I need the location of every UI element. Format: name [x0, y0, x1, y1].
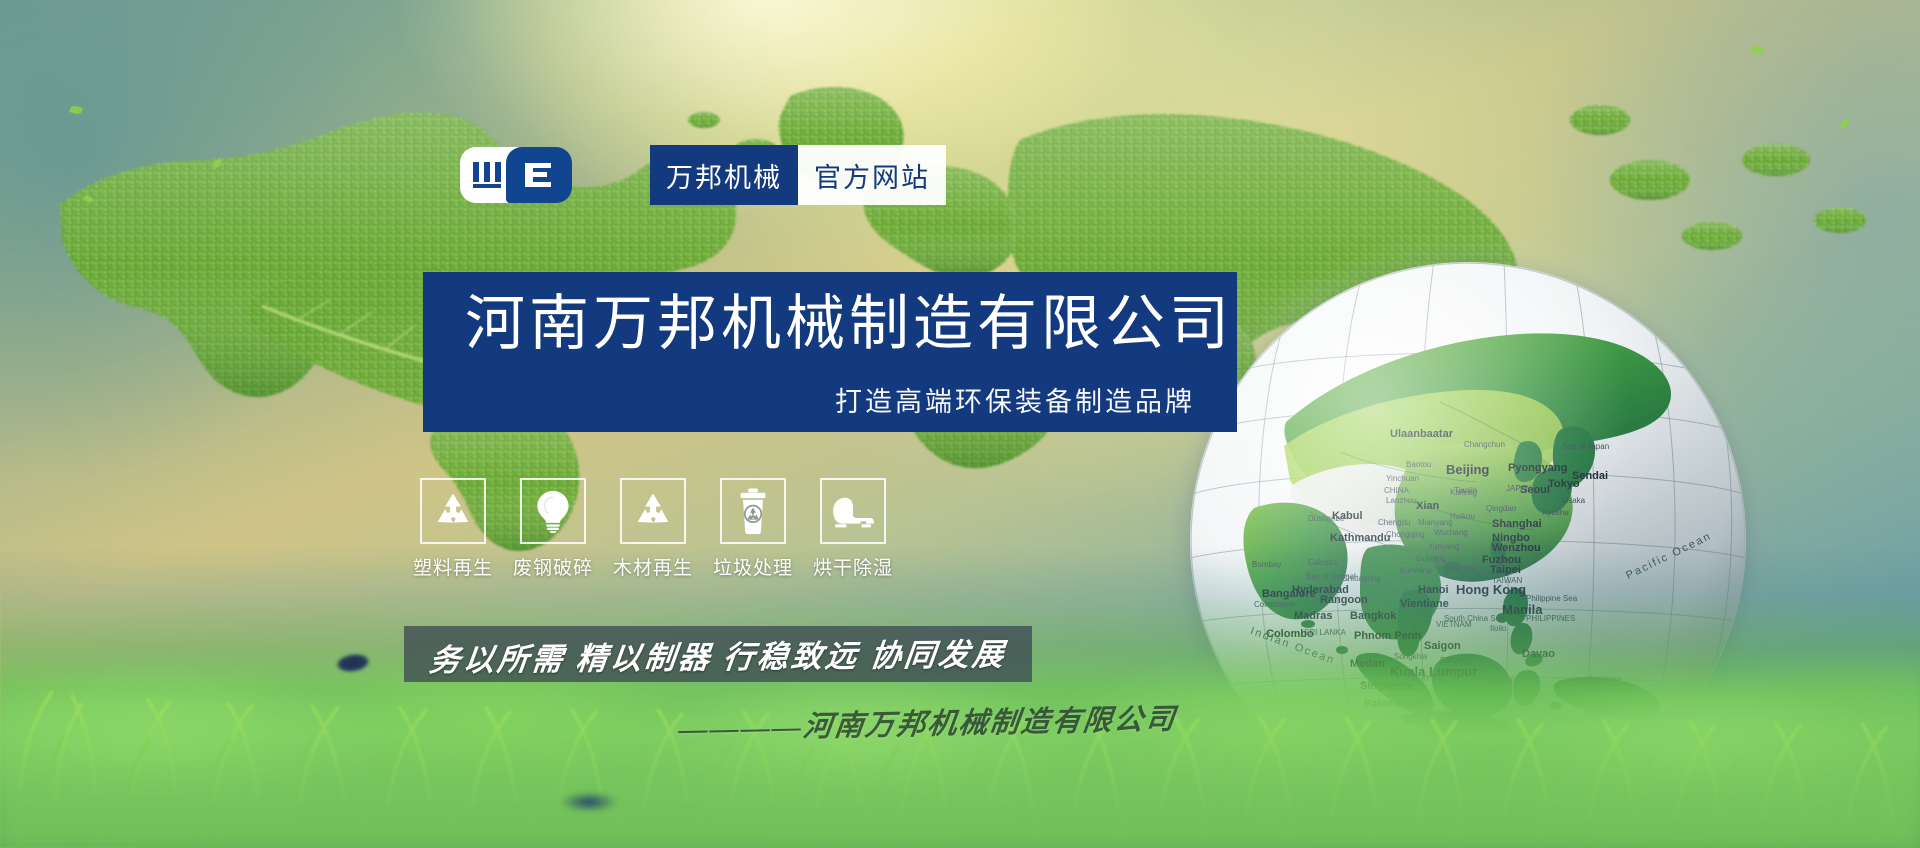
logo-e-mark [506, 147, 572, 203]
globe-city-label: Chengdu [1378, 518, 1410, 527]
globe-city-label: Kathmandu [1330, 532, 1391, 544]
globe-city-label: Pyongyang [1508, 462, 1567, 474]
globe-city-label: Changchun [1464, 440, 1505, 449]
service-item-plastic-recycling[interactable]: 塑料再生 [420, 478, 486, 580]
tab-official-site[interactable]: 官方网站 [798, 145, 946, 205]
globe-city-label: Xian [1416, 500, 1439, 512]
insect-speck [560, 792, 618, 812]
service-item-waste-treatment[interactable]: 垃圾处理 [720, 478, 786, 580]
hero-subtitle: 打造高端环保装备制造品牌 [465, 380, 1195, 419]
globe-city-label: Chongqing [1386, 530, 1425, 539]
service-label: 烘干除湿 [813, 553, 893, 580]
hero-title-panel: 河南万邦机械制造有限公司 打造高端环保装备制造品牌 [423, 272, 1237, 432]
service-item-wood-recycling[interactable]: 木材再生 [620, 478, 686, 580]
service-item-drying-dehumidifying[interactable]: 烘干除湿 [820, 478, 886, 580]
service-icon-row: 塑料再生 废钢破碎 [420, 478, 886, 580]
recycle-icon [620, 478, 686, 544]
brand-logo[interactable] [460, 145, 572, 205]
dryer-machine-icon [820, 478, 886, 544]
globe-city-label: Shanghai [1492, 518, 1542, 530]
globe-country-label: JAPAN [1506, 484, 1531, 493]
globe-city-label: Dushanbe [1308, 514, 1344, 523]
globe-city-label: Yinchuan [1386, 474, 1419, 483]
service-label: 木材再生 [613, 553, 693, 580]
globe-city-label: Baotou [1406, 460, 1431, 469]
service-label: 垃圾处理 [713, 553, 793, 580]
page-title: 河南万邦机械制造有限公司 [465, 294, 1195, 354]
globe-city-label: Qingdao [1486, 504, 1516, 513]
service-label: 废钢破碎 [513, 553, 593, 580]
service-label: 塑料再生 [413, 553, 493, 580]
globe-city-label: Ulaanbaatar [1390, 428, 1453, 440]
trash-bin-recycle-icon [720, 478, 786, 544]
recycle-icon [420, 478, 486, 544]
globe-city-label: Haikou [1450, 512, 1475, 521]
slogan-text: 务以所需 精以制器 行稳致远 协同发展 [427, 628, 1009, 679]
service-item-scrap-steel-crushing[interactable]: 废钢破碎 [520, 478, 586, 580]
globe-city-label: Osaka [1562, 496, 1585, 505]
lightbulb-icon [520, 478, 586, 544]
wb-logo-icon[interactable] [460, 147, 572, 203]
tab-company-name[interactable]: 万邦机械 [650, 145, 798, 205]
hero-banner: Ulaanbaatar Beijing Baotou Yinchuan Chan… [0, 0, 1920, 848]
globe-city-label: Mianyang [1418, 518, 1453, 527]
globe-city-label: Kyushu [1542, 508, 1569, 517]
globe-city-label: Wuchang [1434, 528, 1468, 537]
globe-sea-label: Sea of Japan [1562, 442, 1609, 451]
globe-city-label: Sendai [1572, 470, 1608, 482]
globe-country-label: CHINA [1384, 486, 1409, 495]
globe-city-label: Lanzhou [1386, 496, 1417, 505]
globe-city-label: Beijing [1446, 462, 1489, 477]
slogan-bar: 务以所需 精以制器 行稳致远 协同发展 [404, 626, 1032, 682]
site-tabs[interactable]: 万邦机械 官方网站 [650, 145, 946, 205]
globe-city-label: Kaifeng [1450, 488, 1477, 497]
